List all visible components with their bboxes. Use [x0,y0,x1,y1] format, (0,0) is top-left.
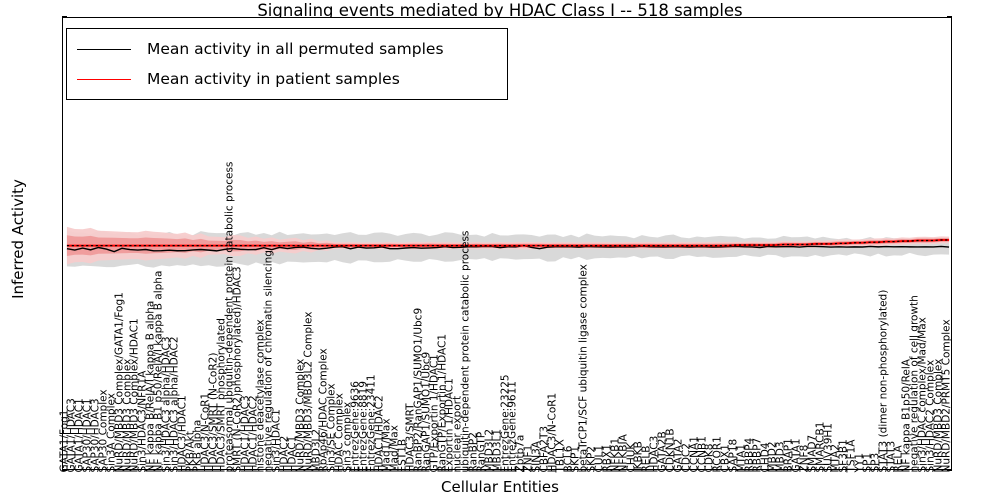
chart-figure: Signaling events mediated by HDAC Class … [0,0,1000,500]
legend-entry-patient: Mean activity in patient samples [67,64,507,94]
chart-legend: Mean activity in all permuted samples Me… [66,28,508,100]
legend-label-permuted: Mean activity in all permuted samples [147,40,444,58]
legend-swatch-patient [77,79,131,80]
legend-label-patient: Mean activity in patient samples [147,70,400,88]
y-axis-label: Inferred Activity [9,9,27,469]
x-axis-label: Cellular Entities [0,478,1000,496]
legend-swatch-permuted [77,49,131,50]
legend-entry-permuted: Mean activity in all permuted samples [67,34,507,64]
